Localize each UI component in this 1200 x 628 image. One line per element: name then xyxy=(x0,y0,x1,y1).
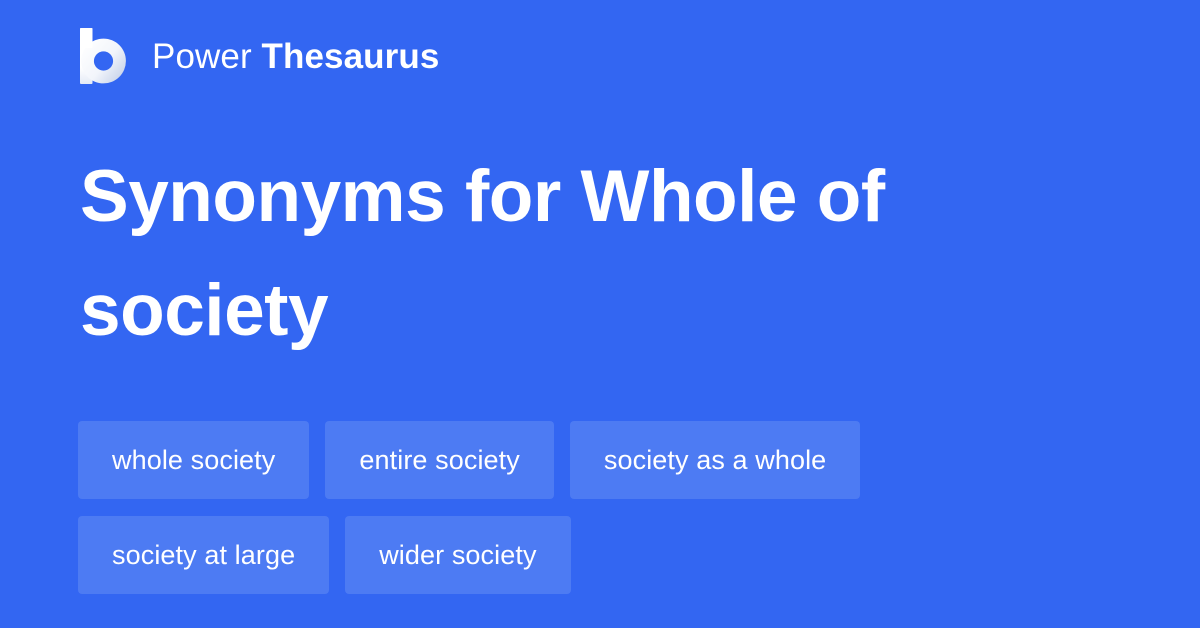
brand-wordmark: PowerThesaurus xyxy=(152,39,439,74)
synonym-chip[interactable]: society at large xyxy=(78,516,329,594)
synonym-chip[interactable]: entire society xyxy=(325,421,553,499)
share-card: PowerThesaurus Synonyms for Whole of soc… xyxy=(0,0,1200,628)
page-title: Synonyms for Whole of society xyxy=(80,140,1080,368)
power-thesaurus-b-logo-icon xyxy=(78,28,130,84)
brand-word-thesaurus: Thesaurus xyxy=(262,39,440,74)
synonym-chip[interactable]: wider society xyxy=(345,516,570,594)
synonym-chip-list: whole society entire society society as … xyxy=(78,421,1088,594)
brand-header[interactable]: PowerThesaurus xyxy=(78,26,439,86)
synonym-chip[interactable]: whole society xyxy=(78,421,309,499)
brand-word-power: Power xyxy=(152,39,252,74)
synonym-chip[interactable]: society as a whole xyxy=(570,421,860,499)
